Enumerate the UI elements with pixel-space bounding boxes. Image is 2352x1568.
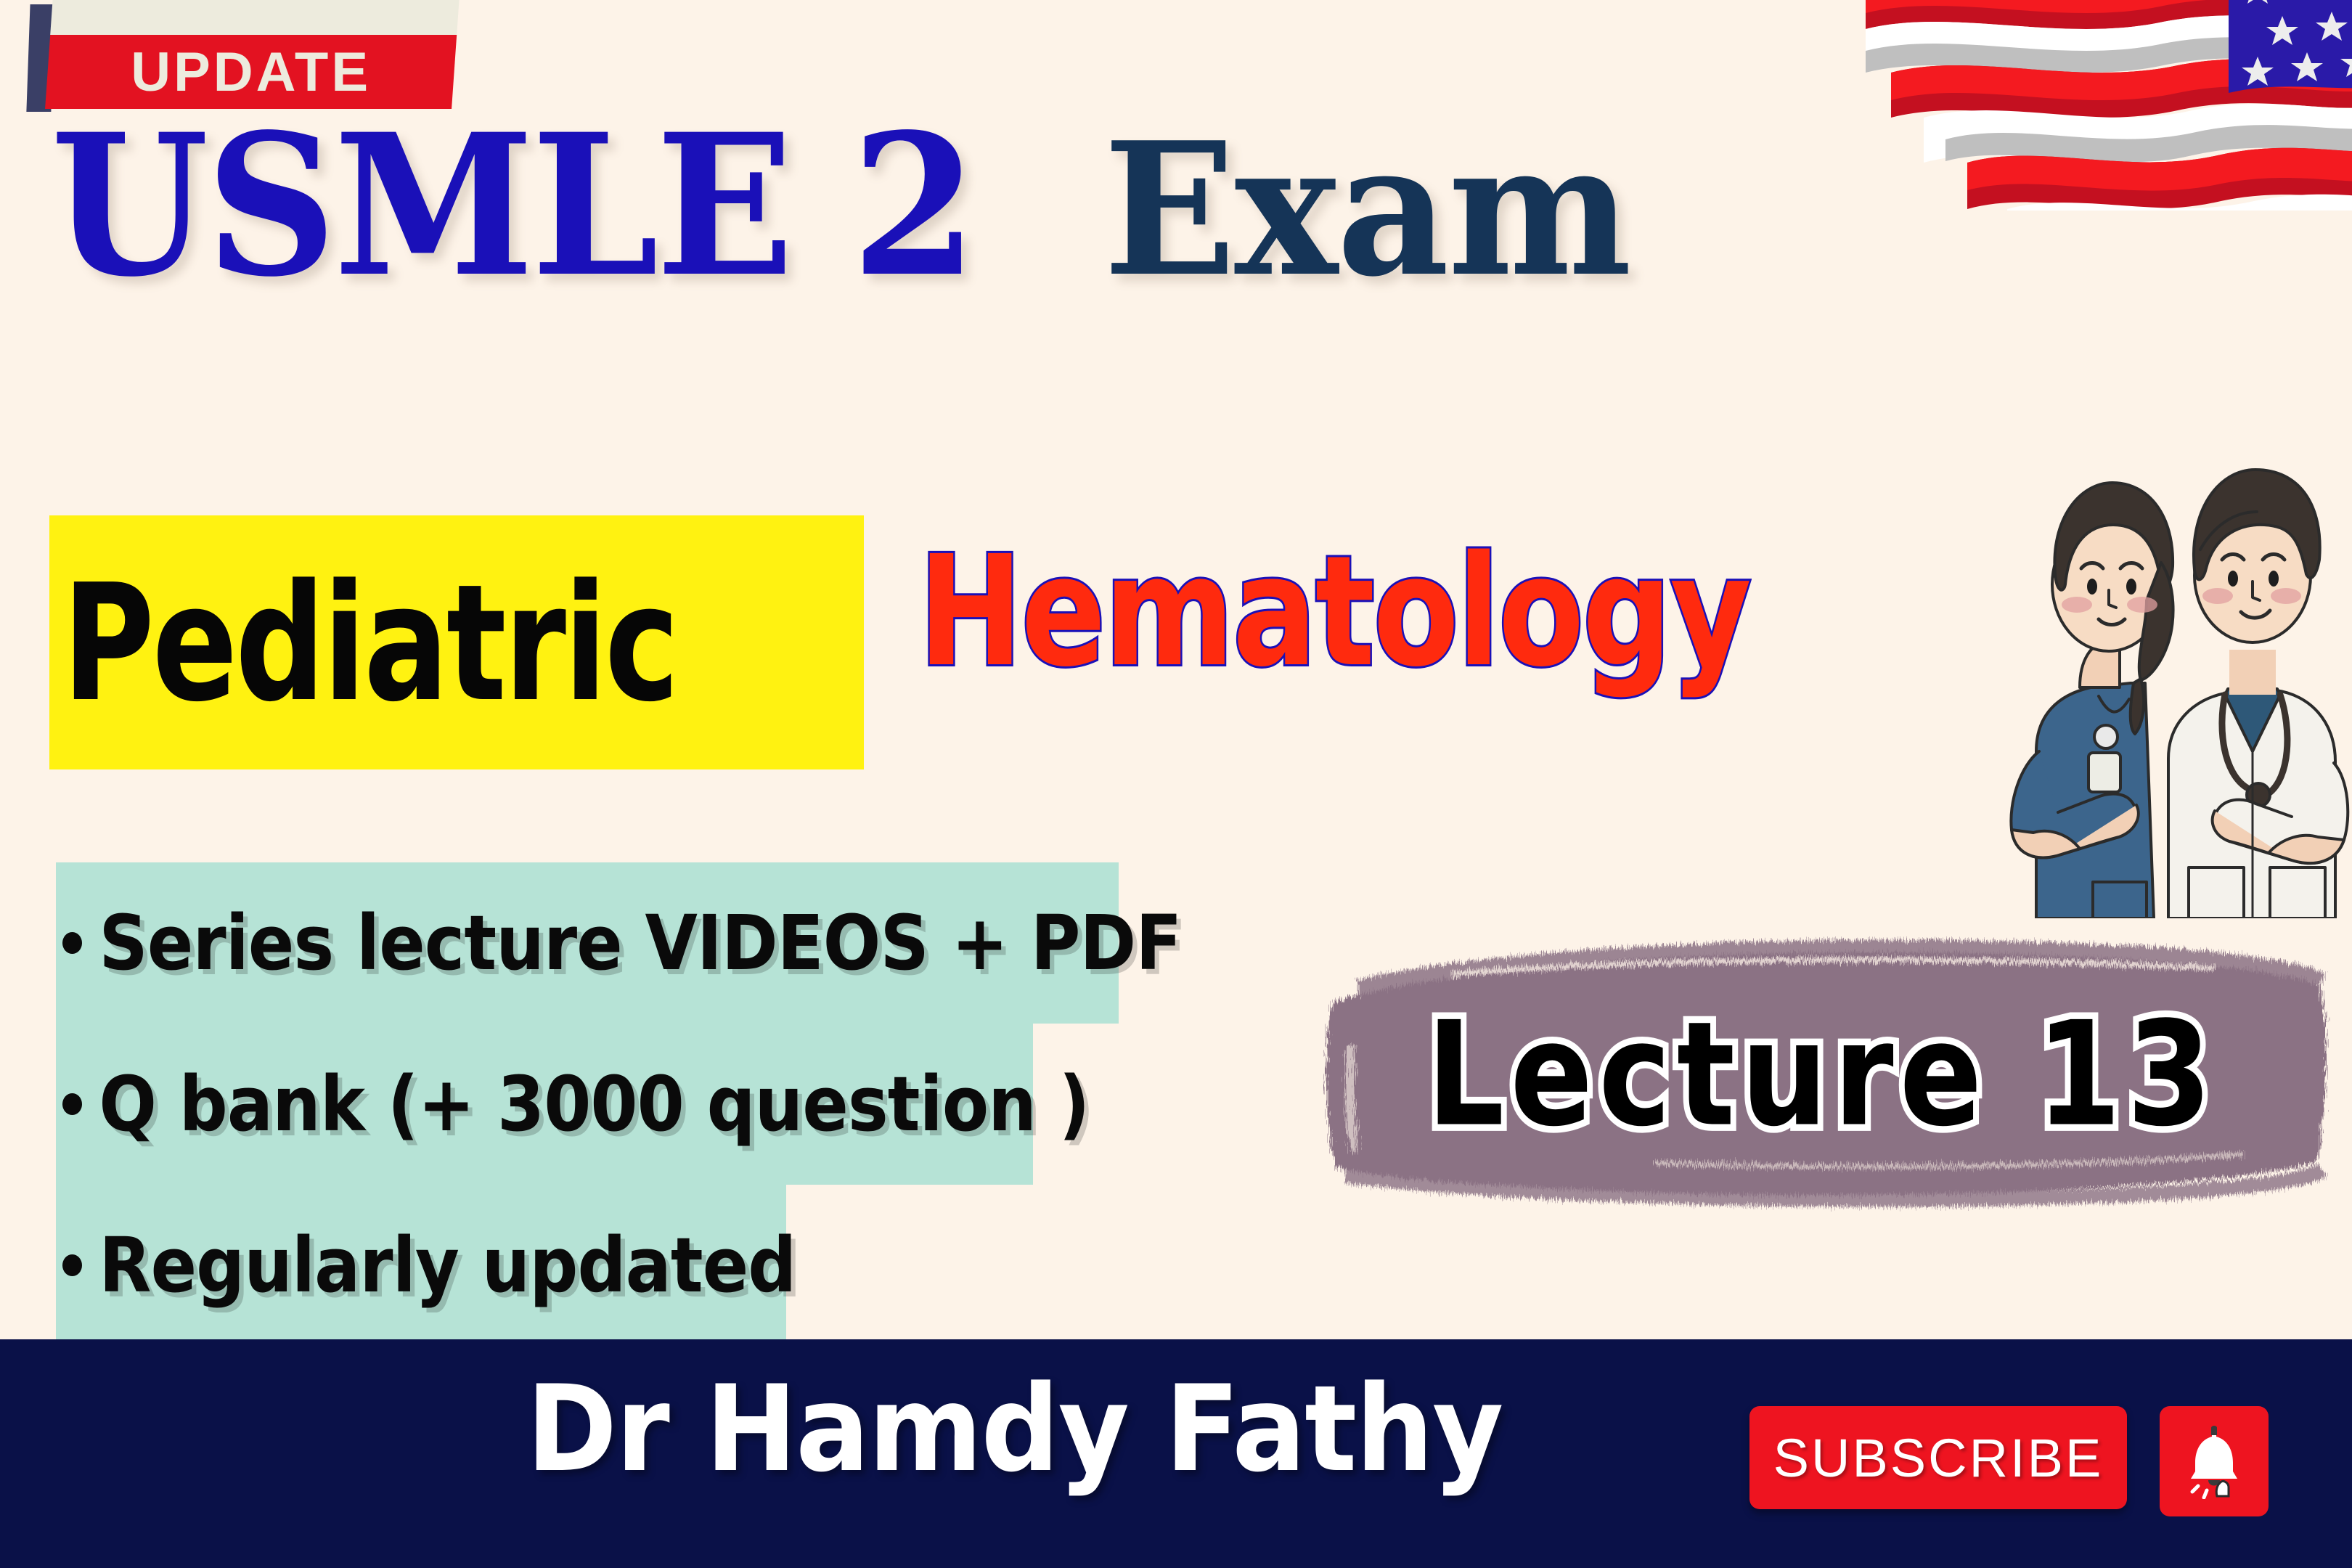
list-item: Regularly updated bbox=[0, 1185, 1234, 1346]
specialty-label: Pediatric bbox=[62, 539, 679, 749]
bullet-dot-icon bbox=[62, 1093, 82, 1115]
feature-label: Regularly updated bbox=[99, 1228, 796, 1303]
list-item: Q bank (+ 3000 question ) bbox=[0, 1024, 1234, 1185]
title-secondary: Exam bbox=[1103, 118, 1630, 301]
subscribe-button[interactable]: SUBSCRIBE bbox=[1749, 1406, 2127, 1509]
bullet-dot-icon bbox=[62, 932, 82, 954]
title-primary: USMLE 2 bbox=[51, 109, 975, 303]
feature-text: Regularly updated bbox=[62, 1185, 796, 1346]
update-badge-cream-band bbox=[50, 0, 460, 35]
footer-bar: Dr Hamdy Fathy SUBSCRIBE bbox=[0, 1339, 2352, 1568]
feature-label: Q bank (+ 3000 question ) bbox=[99, 1066, 1089, 1142]
list-item: Series lecture VIDEOS + PDF bbox=[0, 862, 1234, 1024]
two-doctors-illustration bbox=[1964, 410, 2352, 918]
author-name: Dr Hamdy Fathy bbox=[526, 1370, 1503, 1489]
feature-text: Series lecture VIDEOS + PDF bbox=[62, 862, 1181, 1024]
feature-text: Q bank (+ 3000 question ) bbox=[62, 1024, 1090, 1185]
lecture-number-label: Lecture 13 bbox=[1307, 912, 2337, 1237]
page-title: USMLE 2 Exam bbox=[51, 109, 1659, 303]
notification-bell-icon bbox=[2179, 1424, 2249, 1499]
topic-label: Hematology bbox=[918, 536, 1749, 688]
feature-label: Series lecture VIDEOS + PDF bbox=[99, 905, 1181, 981]
notification-bell-button[interactable] bbox=[2160, 1406, 2269, 1516]
usa-flag-icon bbox=[1822, 0, 2352, 211]
bullet-dot-icon bbox=[62, 1254, 82, 1276]
subscribe-label: SUBSCRIBE bbox=[1773, 1427, 2104, 1489]
thumbnail-canvas: UPDATE USMLE 2 Exam Pediatric Hematology… bbox=[0, 0, 2352, 1568]
feature-list: Series lecture VIDEOS + PDF Q bank (+ 30… bbox=[0, 862, 1234, 1346]
